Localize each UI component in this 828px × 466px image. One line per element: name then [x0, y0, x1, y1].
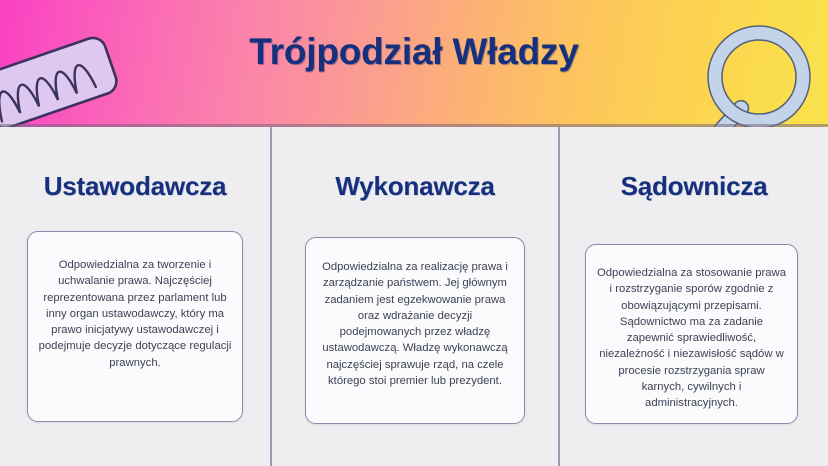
slide-body: Ustawodawcza Odpowiedzialna za tworzenie… [0, 127, 828, 466]
column-ustawodawcza: Ustawodawcza Odpowiedzialna za tworzenie… [0, 127, 270, 466]
column-card-2: Odpowiedzialna za stosowanie prawa i roz… [585, 244, 798, 424]
column-wykonawcza: Wykonawcza Odpowiedzialna za realizację … [272, 127, 558, 466]
column-sadownicza: Sądownicza Odpowiedzialna za stosowanie … [560, 127, 828, 466]
slide-root: Trójpodział Władzy Ustawodawcza Odpowied… [0, 0, 828, 466]
column-body-2: Odpowiedzialna za stosowanie prawa i roz… [596, 265, 787, 412]
column-heading-1: Wykonawcza [272, 171, 558, 202]
column-body-0: Odpowiedzialna za tworzenie i uchwalanie… [38, 257, 232, 371]
magnifier-icon [697, 17, 828, 127]
column-card-0: Odpowiedzialna za tworzenie i uchwalanie… [27, 231, 243, 422]
column-body-1: Odpowiedzialna za realizację prawa i zar… [316, 259, 514, 389]
column-card-1: Odpowiedzialna za realizację prawa i zar… [305, 237, 525, 424]
column-heading-0: Ustawodawcza [0, 171, 270, 202]
slide-header: Trójpodział Władzy [0, 0, 828, 127]
column-heading-2: Sądownicza [560, 171, 828, 202]
